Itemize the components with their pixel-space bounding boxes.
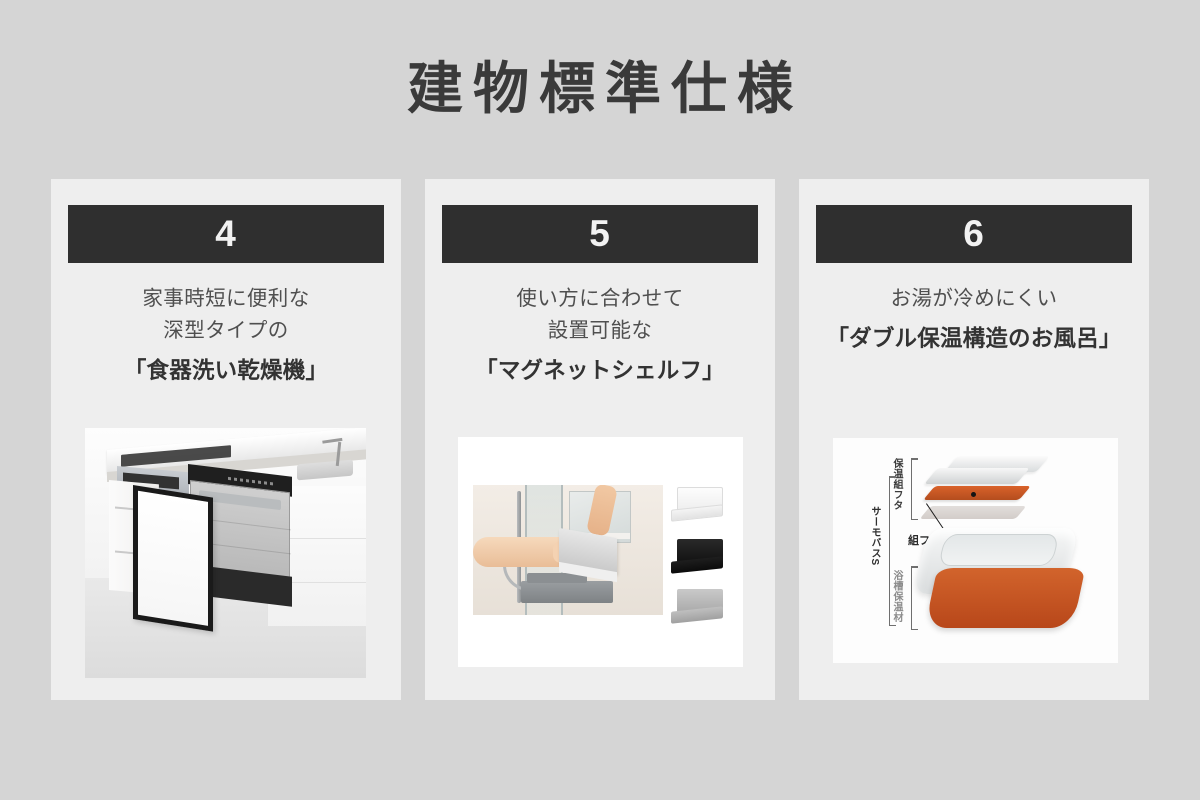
diagram-label-tub-insulation: 浴槽保温材 bbox=[891, 570, 901, 623]
page-title: 建物標準仕様 bbox=[0, 58, 1200, 120]
card-title-6: 「ダブル保温構造のお風呂」 bbox=[809, 323, 1139, 355]
double-insulation-bath-diagram: 保温組フタ サーモバスS 浴槽保温材 組フタ保温材 bbox=[833, 438, 1118, 663]
card-number-badge-6: 6 bbox=[816, 205, 1132, 263]
card-description-4: 家事時短に便利な 深型タイプの bbox=[66, 283, 386, 347]
bathroom-scene bbox=[473, 485, 663, 615]
bath-lid-lower bbox=[924, 468, 1029, 484]
hand-placing-shelf bbox=[473, 537, 569, 567]
card-title-5: 「マグネットシェルフ」 bbox=[435, 355, 765, 387]
card-description-line-2: 深型タイプの bbox=[66, 315, 386, 347]
dishwasher-door-panel bbox=[133, 485, 213, 632]
dishwasher-kitchen-photo bbox=[85, 428, 366, 678]
card-description-line-1: 使い方に合わせて bbox=[440, 283, 760, 315]
spec-card-list: 4 家事時短に便利な 深型タイプの 「食器洗い乾燥機」 bbox=[51, 179, 1149, 700]
bracket-lid bbox=[911, 458, 912, 520]
bracket-tub bbox=[911, 566, 912, 630]
card-title-4: 「食器洗い乾燥機」 bbox=[61, 355, 391, 387]
bathroom-counter bbox=[521, 581, 613, 603]
card-description-5: 使い方に合わせて 設置可能な bbox=[440, 283, 760, 347]
magnet-shelf-white bbox=[671, 487, 723, 525]
tub-insulation-shell bbox=[925, 568, 1086, 628]
card-description-line-2: 設置可能な bbox=[440, 315, 760, 347]
spec-card-6[interactable]: 6 お湯が冷めにくい 「ダブル保温構造のお風呂」 保温組フタ サーモバスS 浴槽… bbox=[799, 179, 1149, 700]
diagram-label-lid: 保温組フタ bbox=[891, 458, 901, 511]
bracket-thermobath bbox=[889, 476, 890, 626]
card-number-badge-5: 5 bbox=[442, 205, 758, 263]
magnet-shelf-gray bbox=[671, 589, 723, 627]
magnet-shelf-photo bbox=[458, 437, 743, 667]
card-number-badge-4: 4 bbox=[68, 205, 384, 263]
poster-root: 建物標準仕様 4 家事時短に便利な 深型タイプの 「食器洗い乾燥機」 bbox=[0, 0, 1200, 800]
dishwasher-control-buttons bbox=[228, 477, 274, 486]
annotation-dot bbox=[971, 492, 976, 497]
magnet-shelf-black bbox=[671, 539, 723, 577]
card-description-line-1: 家事時短に便利な bbox=[66, 283, 386, 315]
spec-card-5[interactable]: 5 使い方に合わせて 設置可能な 「マグネットシェルフ」 bbox=[425, 179, 775, 700]
card-description-line-1: お湯が冷めにくい bbox=[814, 283, 1134, 315]
card-description-6: お湯が冷めにくい bbox=[814, 283, 1134, 315]
diagram-label-thermobath: サーモバスS bbox=[869, 506, 879, 566]
spec-card-4[interactable]: 4 家事時短に便利な 深型タイプの 「食器洗い乾燥機」 bbox=[51, 179, 401, 700]
